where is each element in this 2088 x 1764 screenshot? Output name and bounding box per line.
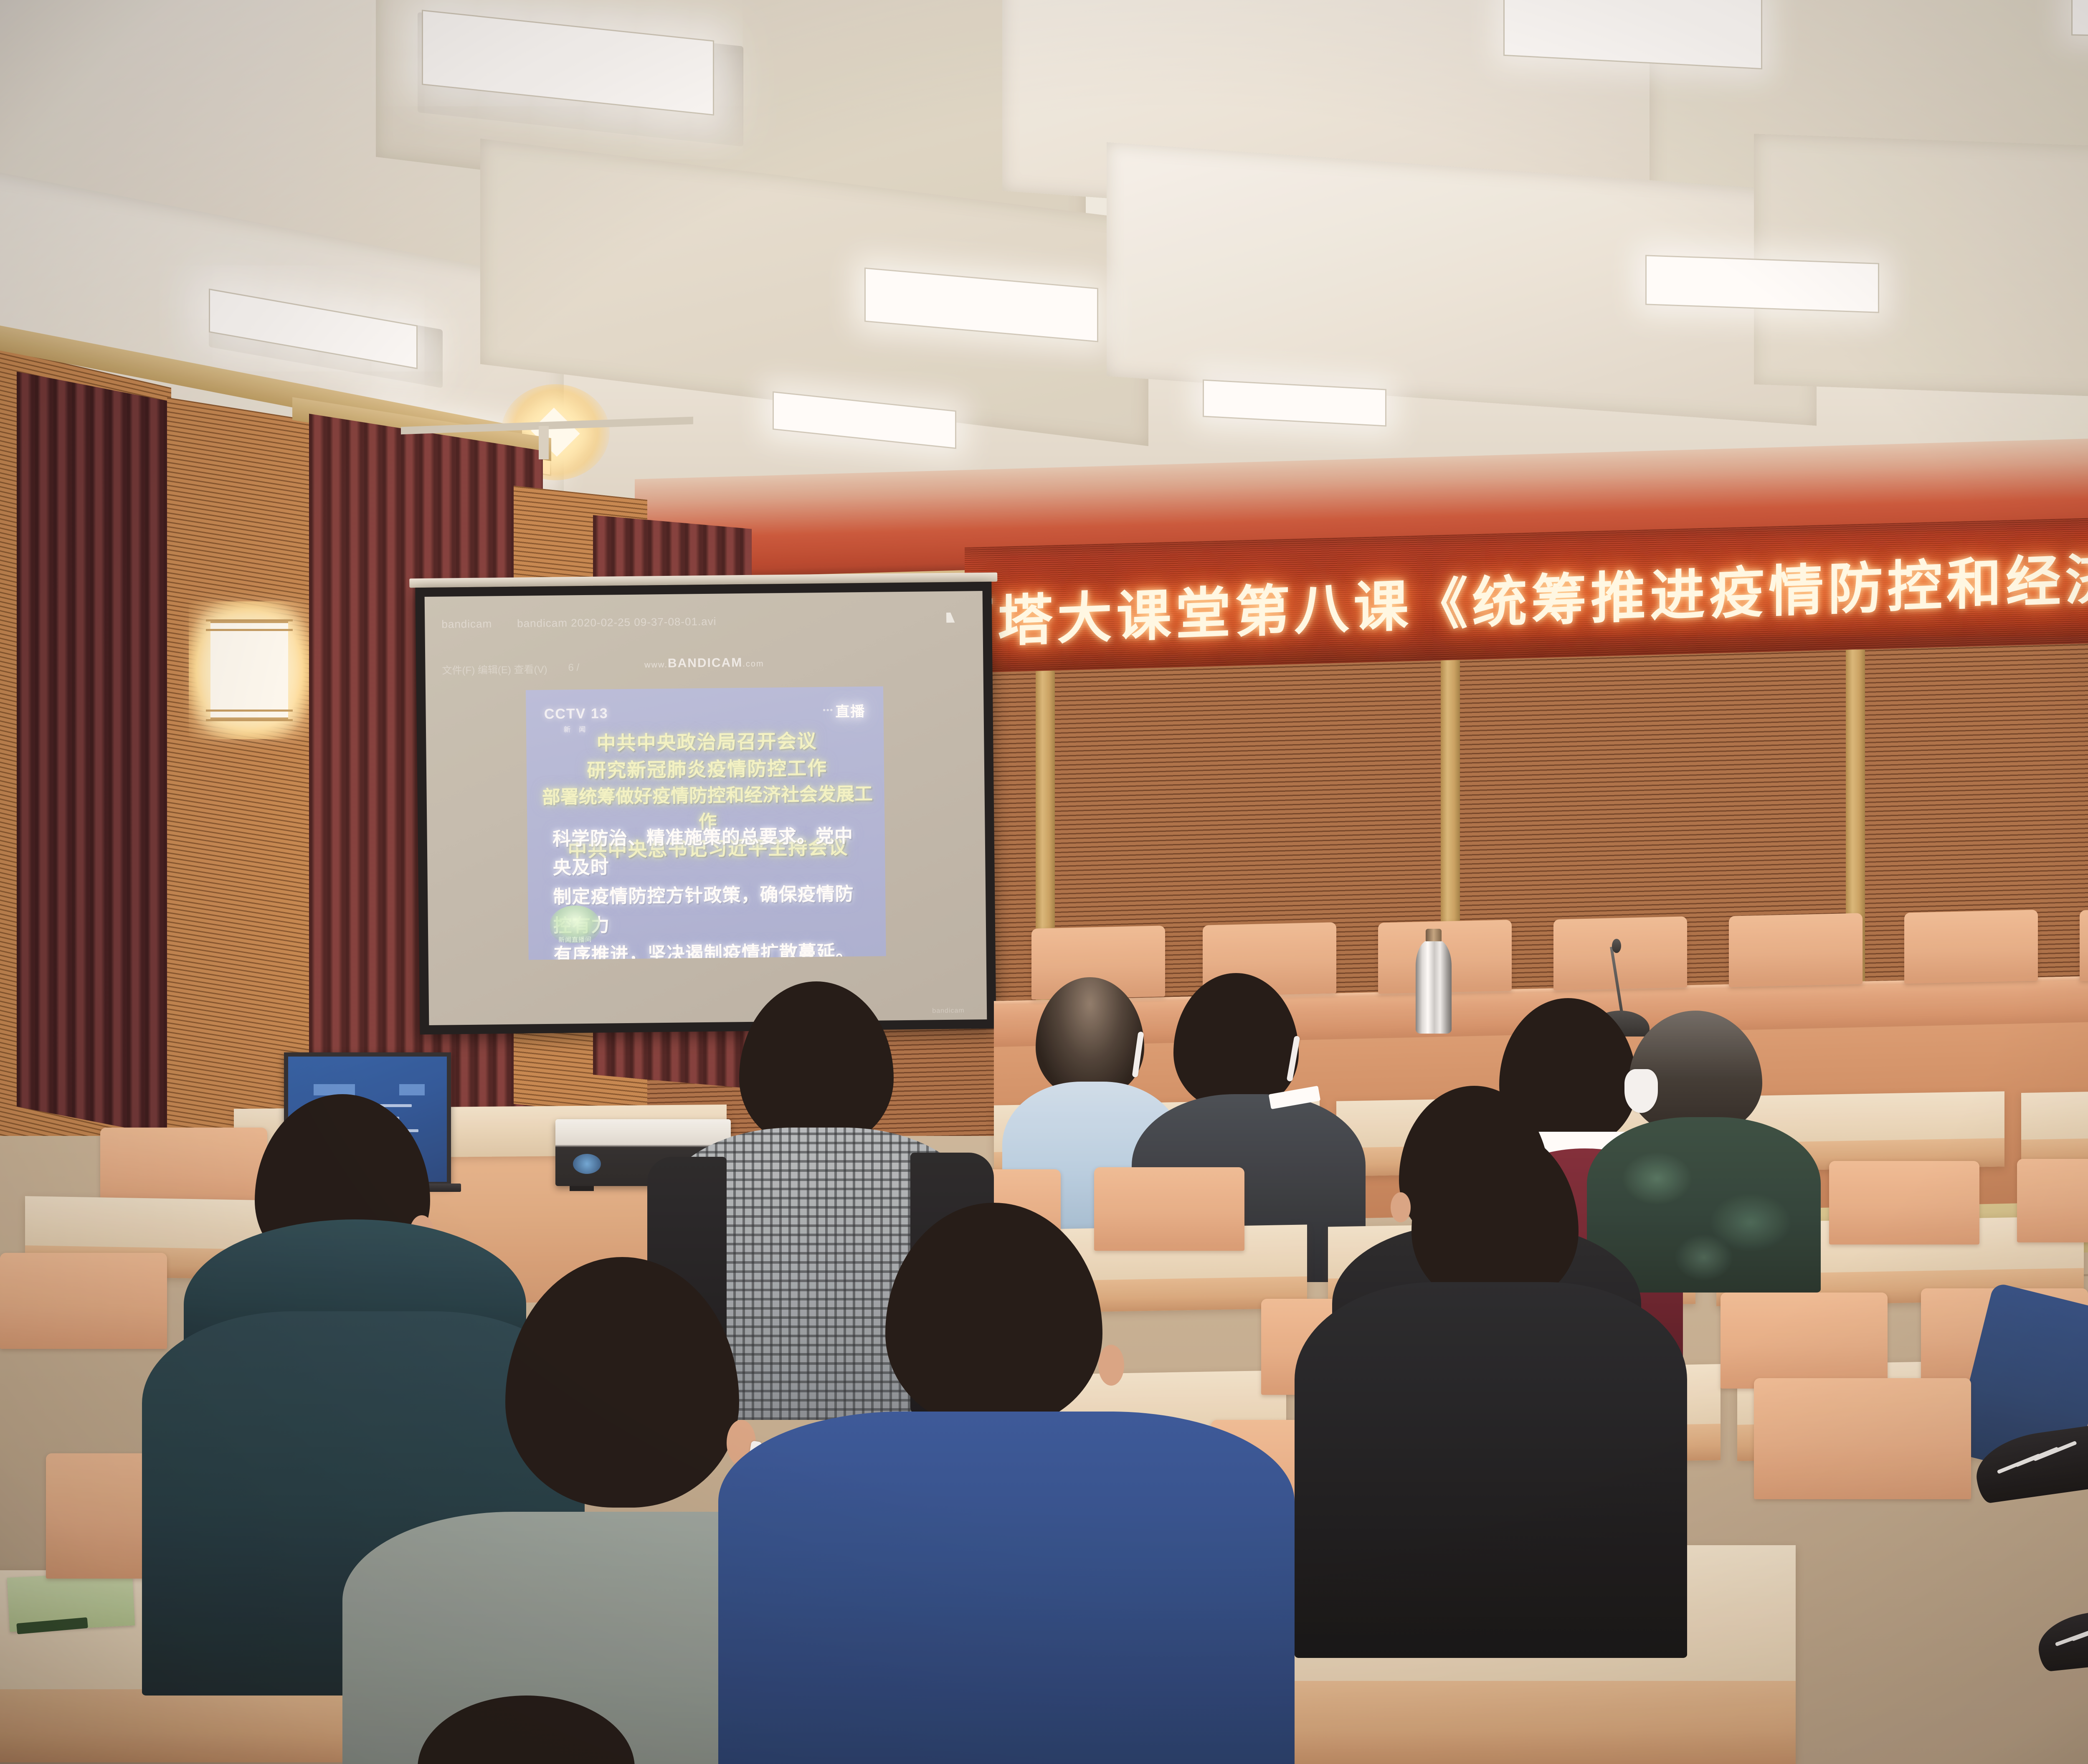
face-mask xyxy=(1624,1069,1658,1113)
audience-chair xyxy=(2017,1159,2088,1242)
screen-bottom-label: bandicam xyxy=(932,1007,965,1015)
headline-line-2: 研究新冠肺炎疫情防控工作 xyxy=(541,754,873,785)
live-badge-dots: • • • xyxy=(823,706,832,715)
ceiling-panel-light xyxy=(2071,0,2088,40)
body-line-1: 科学防治、精准施策的总要求。党中央及时 xyxy=(552,821,867,883)
watermark-suffix: .com xyxy=(742,659,764,669)
audience-chair xyxy=(0,1253,167,1349)
led-banner-text: 观看灯塔大课堂第八课《统筹推进疫情防控和经济社会发展》 xyxy=(965,522,2088,664)
audience-chair xyxy=(1829,1161,1979,1244)
headline-line-1: 中共中央政治局召开会议 xyxy=(541,727,873,758)
window-titlebar: bandicam bandicam 2020-02-25 09-37-08-01… xyxy=(441,608,832,637)
conference-room-photo: 观看灯塔大课堂第八课《统筹推进疫情防控和经济社会发展》 bandicam ban… xyxy=(0,0,2088,1764)
microphone-head-icon xyxy=(1612,939,1621,953)
toolbar-counter: 6 / xyxy=(568,662,579,674)
wall-sconce xyxy=(189,601,310,739)
attendee-ear xyxy=(1098,1345,1124,1386)
window-title: bandicam xyxy=(441,618,492,631)
mouse-cursor-icon xyxy=(946,613,955,623)
audience-desk xyxy=(2021,1087,2088,1168)
live-badge: • • • 直播 xyxy=(823,700,866,721)
screen-mount-bracket xyxy=(539,426,549,459)
bandicam-watermark: www.BANDICAM.com xyxy=(644,655,764,671)
left-wall-pier xyxy=(167,397,317,1156)
screen-surface: bandicam bandicam 2020-02-25 09-37-08-01… xyxy=(425,591,987,1025)
screen-frame: bandicam bandicam 2020-02-25 09-37-08-01… xyxy=(415,582,996,1034)
attendee-ear xyxy=(1391,1192,1411,1222)
projector-lens-icon xyxy=(573,1154,601,1174)
body-line-3: 有序推进，坚决遏制疫情扩散蔓延。加强对 xyxy=(554,938,869,960)
head-table-chair xyxy=(2080,907,2088,981)
ceiling-panel-light xyxy=(1645,255,1879,313)
head-table-chair xyxy=(1904,910,2038,983)
audience-chair xyxy=(1094,1167,1244,1251)
thermos-flask xyxy=(1416,940,1452,1034)
window-title-meta: bandicam 2020-02-25 09-37-08-01.avi xyxy=(517,615,717,630)
cctv-logo-text: CCTV xyxy=(544,705,586,722)
body-line-2: 制定疫情防控方针政策，确保疫情防控有力 xyxy=(553,879,868,941)
live-badge-label: 直播 xyxy=(835,700,866,721)
audience-chair xyxy=(1721,1293,1888,1389)
attendee-body xyxy=(1295,1282,1687,1658)
watermark-name: BANDICAM xyxy=(668,656,743,670)
audience-chair xyxy=(1754,1378,1971,1499)
toolbar-menu: 文件(F) 编辑(E) 查看(V) xyxy=(442,661,547,677)
watermark-prefix: www. xyxy=(644,660,668,670)
news-channel-bug-icon: 新闻直播间 xyxy=(550,905,600,943)
attendee-body xyxy=(718,1412,1295,1764)
head-table-chair xyxy=(1729,913,1862,987)
head-table-chair xyxy=(1553,916,1687,990)
channel-bug-label: 新闻直播间 xyxy=(550,935,600,944)
broadcast-video: CCTV 13 新 闻 • • • 直播 中共中央政治局召开会议 研究新冠肺炎疫… xyxy=(526,686,886,960)
cctv-channel-number: 13 xyxy=(591,705,608,721)
projection-screen: bandicam bandicam 2020-02-25 09-37-08-01… xyxy=(415,582,996,1034)
